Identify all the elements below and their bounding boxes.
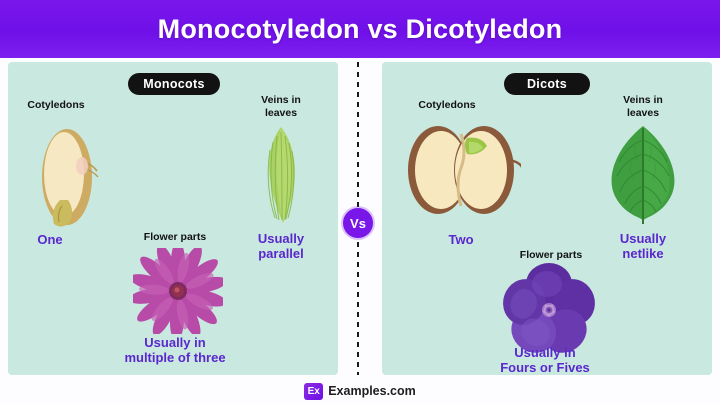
dicot-cotyledons-value: Two [428, 232, 494, 247]
dicot-leaf-illustration [600, 124, 686, 229]
monocot-flower-value-line1: Usually in [108, 335, 242, 350]
dicots-badge: Dicots [504, 73, 590, 95]
monocot-veins-value-line1: Usually [244, 231, 318, 246]
vs-badge: Vs [343, 208, 373, 238]
examples-logo-text: Examples.com [328, 384, 416, 398]
page-title: Monocotyledon vs Dicotyledon [158, 14, 563, 45]
monocot-veins-label-line2: leaves [238, 107, 324, 119]
dicot-flower-value-line2: Fours or Fives [462, 360, 628, 375]
dicot-seed-illustration [405, 124, 521, 221]
monocot-cotyledons-label: Cotyledons [12, 99, 100, 111]
dicot-veins-value-line1: Usually [605, 231, 681, 246]
monocot-seed-illustration [30, 122, 106, 235]
dicot-cotyledons-label: Cotyledons [403, 99, 491, 111]
dicot-veins-value-line2: netlike [605, 246, 681, 261]
infographic-root: Monocotyledon vs Dicotyledon Monocots Co… [0, 0, 720, 404]
monocot-leaf-illustration [253, 126, 309, 231]
footer: Ex Examples.com [0, 378, 720, 404]
dicot-veins-label-line1: Veins in [600, 94, 686, 106]
dicot-flower-value-line1: Usually in [478, 345, 612, 360]
monocot-veins-label-line1: Veins in [238, 94, 324, 106]
header-bar: Monocotyledon vs Dicotyledon [0, 0, 720, 58]
monocot-flower-label: Flower parts [128, 231, 222, 243]
monocot-flower-illustration [133, 248, 223, 339]
monocot-cotyledons-value: One [18, 232, 82, 247]
monocot-flower-value-line2: multiple of three [92, 350, 258, 365]
examples-logo-icon: Ex [304, 383, 323, 400]
monocot-veins-value-line2: parallel [244, 246, 318, 261]
dicot-veins-label-line2: leaves [600, 107, 686, 119]
dicot-flower-label: Flower parts [504, 249, 598, 261]
monocots-badge: Monocots [128, 73, 220, 95]
